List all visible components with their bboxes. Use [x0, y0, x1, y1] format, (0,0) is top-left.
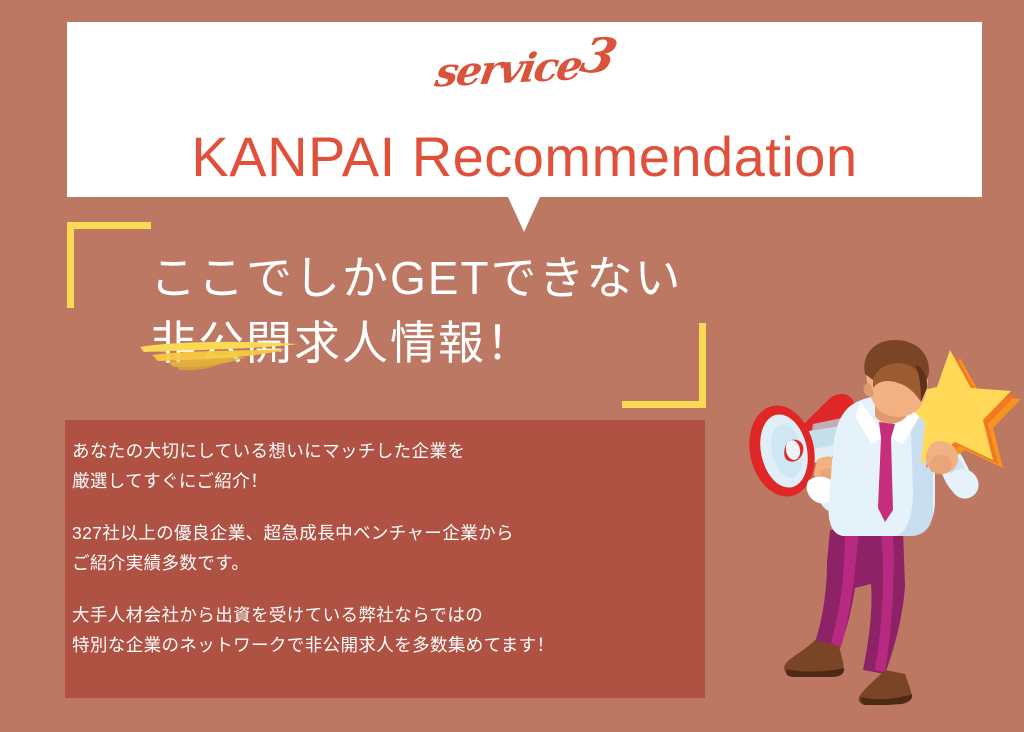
poster-canvas: service3 KANPAI Recommendation ここでしかGETで…	[0, 0, 1024, 732]
service-script-word: service	[432, 42, 584, 96]
corner-bracket-top-left	[67, 222, 151, 308]
businessman-with-megaphone-illustration	[735, 340, 1024, 705]
speech-bubble-tail-icon	[508, 197, 540, 232]
headline-card: service3 KANPAI Recommendation	[67, 22, 982, 197]
shoe-left-icon	[784, 640, 844, 677]
shoe-right-icon	[859, 670, 913, 705]
headline-line-2-wrap: 非公開求人情報！	[150, 311, 710, 376]
description-paragraph-2: 327社以上の優良企業、超急成長中ベンチャー企業からご紹介実績多数です。	[72, 518, 692, 578]
headline-line-2: 非公開求人情報！	[150, 317, 534, 369]
description-paragraph-3: 大手人材会社から出資を受けている弊社ならではの特別な企業のネットワークで非公開求…	[72, 600, 692, 660]
service-script-number: 3	[576, 27, 622, 85]
description-text: あなたの大切にしている想いにマッチした企業を厳選してすぐにご紹介！ 327社以上…	[72, 436, 692, 661]
bracket-arm-horizontal	[622, 401, 706, 408]
service-script-label: service3	[58, 14, 991, 118]
headline-block: ここでしかGETできない 非公開求人情報！	[150, 246, 710, 377]
bracket-arm-horizontal	[67, 222, 151, 229]
page-title: KANPAI Recommendation	[67, 124, 982, 189]
headline-line-1: ここでしかGETできない	[150, 246, 710, 311]
description-paragraph-1: あなたの大切にしている想いにマッチした企業を厳選してすぐにご紹介！	[72, 436, 692, 496]
bracket-arm-vertical	[67, 222, 74, 308]
